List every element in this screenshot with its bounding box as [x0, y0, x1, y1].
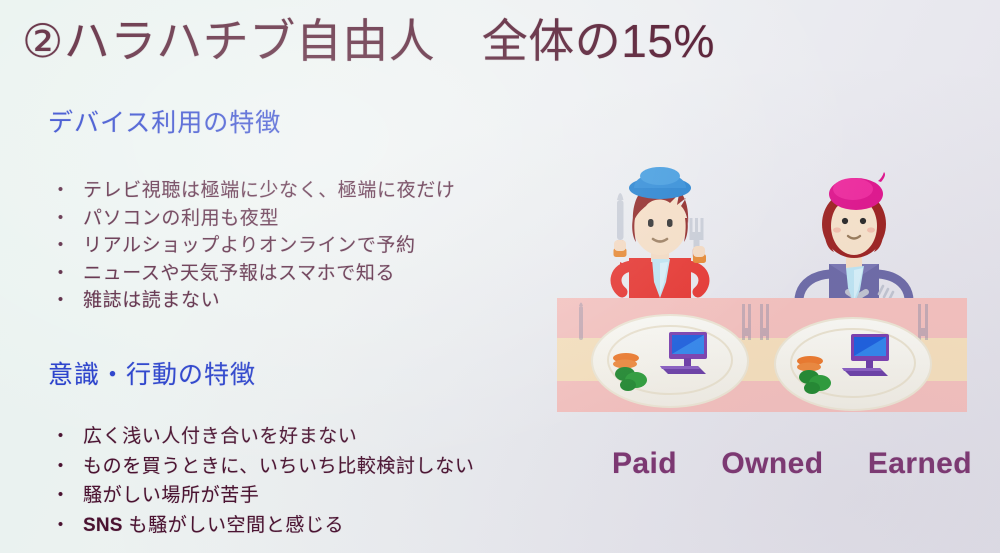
bullet-list-mindset-behavior: ・ 広く浅い人付き合いを好まない ・ ものを買うときに、いちいち比較検討しない …	[44, 422, 474, 540]
list-item-label: 広く浅い人付き合いを好まない	[83, 422, 474, 452]
list-item-label: 雑誌は読まない	[83, 287, 455, 315]
list-item-label: ニュースや天気予報はスマホで知る	[83, 260, 455, 288]
left-diner-eye	[667, 219, 673, 227]
caption-owned: Owned	[721, 447, 823, 481]
blue-cap-icon	[629, 167, 691, 199]
section-heading-mindset-behavior: 意識・行動の特徴	[48, 358, 256, 392]
list-item-emphasis: SNS	[83, 515, 123, 536]
bullet-marker-icon: ・	[44, 287, 83, 315]
slide-title: ②ハラハチブ自由人 全体の15%	[22, 11, 715, 71]
orange-food	[613, 353, 639, 369]
presentation-slide: ②ハラハチブ自由人 全体の15% デバイス利用の特徴 ・ テレビ視聴は極端に少な…	[0, 0, 1000, 553]
section-heading-device-usage: デバイス利用の特徴	[48, 106, 281, 140]
list-item-label: テレビ視聴は極端に少なく、極端に夜だけ	[83, 177, 455, 205]
pink-beret-icon	[829, 172, 885, 210]
list-item: ・ 騒がしい場所が苦手	[44, 481, 474, 511]
list-item: ・ パソコンの利用も夜型	[44, 205, 455, 233]
left-diner-eye	[648, 219, 654, 227]
right-diner-eye	[842, 218, 848, 224]
list-item: ・ テレビ視聴は極端に少なく、極端に夜だけ	[44, 177, 455, 205]
bullet-list-device-usage: ・ テレビ視聴は極端に少なく、極端に夜だけ ・ パソコンの利用も夜型 ・ リアル…	[44, 177, 455, 315]
list-item-label: SNS も騒がしい空間と感じる	[83, 511, 474, 541]
list-item-rest: も騒がしい空間と感じる	[123, 515, 344, 536]
list-item: ・ リアルショップよりオンラインで予約	[44, 232, 455, 260]
list-item: ・ SNS も騒がしい空間と感じる	[44, 511, 474, 541]
bullet-marker-icon: ・	[44, 511, 83, 541]
list-item: ・ ニュースや天気予報はスマホで知る	[44, 260, 455, 288]
left-diner-figure	[614, 167, 707, 303]
caption-paid: Paid	[612, 447, 677, 481]
list-item-label: ものを買うときに、いちいち比較検討しない	[83, 452, 474, 482]
list-item: ・ 雑誌は読まない	[44, 287, 455, 315]
list-item-label: パソコンの利用も夜型	[83, 205, 455, 233]
orange-food	[797, 356, 823, 372]
bullet-marker-icon: ・	[44, 452, 83, 482]
list-item: ・ 広く浅い人付き合いを好まない	[44, 422, 474, 452]
caption-earned: Earned	[868, 447, 972, 481]
list-item-label: 騒がしい場所が苦手	[83, 481, 474, 511]
illustration-two-diners	[548, 158, 978, 423]
bullet-marker-icon: ・	[44, 481, 83, 511]
bullet-marker-icon: ・	[44, 422, 83, 452]
bullet-marker-icon: ・	[44, 232, 83, 260]
list-item-label: リアルショップよりオンラインで予約	[83, 232, 455, 260]
bullet-marker-icon: ・	[44, 205, 83, 233]
list-item: ・ ものを買うときに、いちいち比較検討しない	[44, 452, 474, 482]
bullet-marker-icon: ・	[44, 177, 83, 205]
plate-right	[775, 318, 931, 410]
right-diner-eye	[860, 218, 866, 224]
plate-left	[592, 315, 748, 407]
poe-caption: Paid Owned Earned	[612, 447, 972, 481]
bullet-marker-icon: ・	[44, 260, 83, 288]
